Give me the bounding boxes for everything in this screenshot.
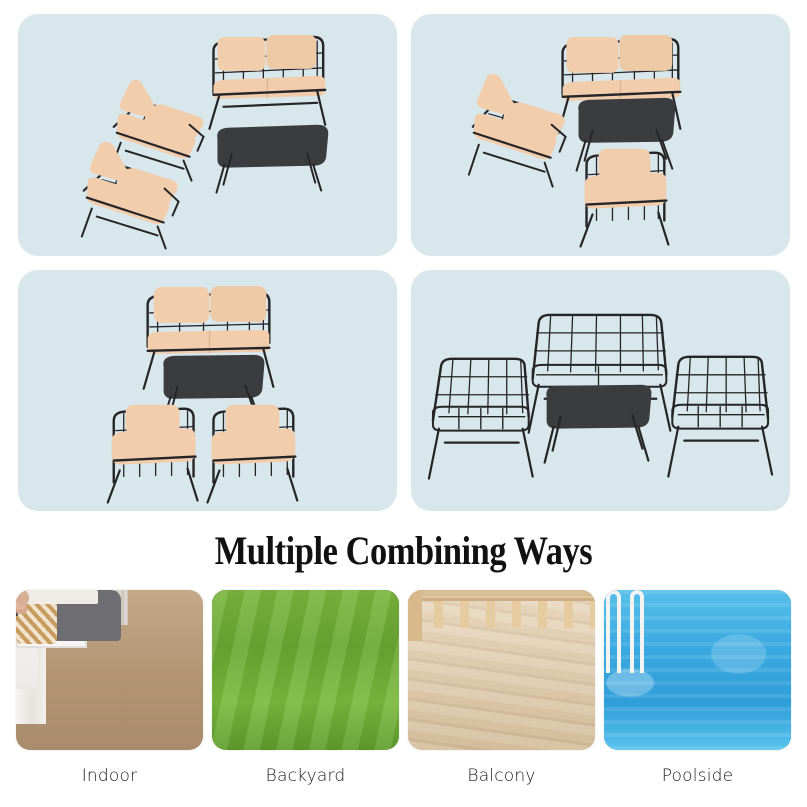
indoor-vase-3 [16, 590, 29, 606]
layout-panel-3 [18, 270, 397, 512]
scene-thumbnail-indoor[interactable] [16, 590, 203, 750]
scene-label-balcony: Balcony [408, 756, 595, 796]
balcony-rail-bottom [408, 590, 595, 596]
armchair-frame-right [668, 356, 772, 476]
armchair-frame-left [429, 358, 533, 478]
layout-3-illustration [18, 270, 397, 512]
poolside-pool-ladder [604, 590, 660, 673]
armchair-left [469, 74, 566, 187]
layout-panel-1 [18, 14, 397, 256]
balcony-post-2 [408, 590, 422, 641]
layout-1-illustration [18, 14, 397, 256]
layout-panel-4 [411, 270, 790, 512]
scene-thumbnail-balcony[interactable] [408, 590, 595, 750]
layout-2-illustration [411, 14, 790, 256]
backyard-lawn-stripes [212, 590, 399, 750]
scene-thumbnail-row [16, 590, 791, 750]
loveseat [209, 35, 325, 129]
scene-thumbnail-poolside[interactable] [604, 590, 791, 750]
layout-panel-2 [411, 14, 790, 256]
layout-panel-grid [18, 14, 790, 511]
page-title: Multiple Combining Ways [56, 524, 750, 576]
scene-caption-row: Indoor Backyard Balcony Poolside [16, 756, 791, 796]
armchair-left [108, 404, 198, 502]
product-infographic: Multiple Combining Ways [0, 0, 807, 807]
coffee-table [545, 384, 652, 462]
armchair-right [208, 404, 298, 502]
armchair-front [581, 149, 669, 247]
scene-label-poolside: Poolside [604, 756, 791, 796]
layout-4-illustration [411, 270, 790, 512]
coffee-table [216, 125, 328, 193]
armchair-lower [82, 142, 179, 249]
scene-label-backyard: Backyard [212, 756, 399, 796]
scene-label-indoor: Indoor [16, 756, 203, 796]
scene-thumbnail-backyard[interactable] [212, 590, 399, 750]
armchair-upper [112, 80, 204, 181]
